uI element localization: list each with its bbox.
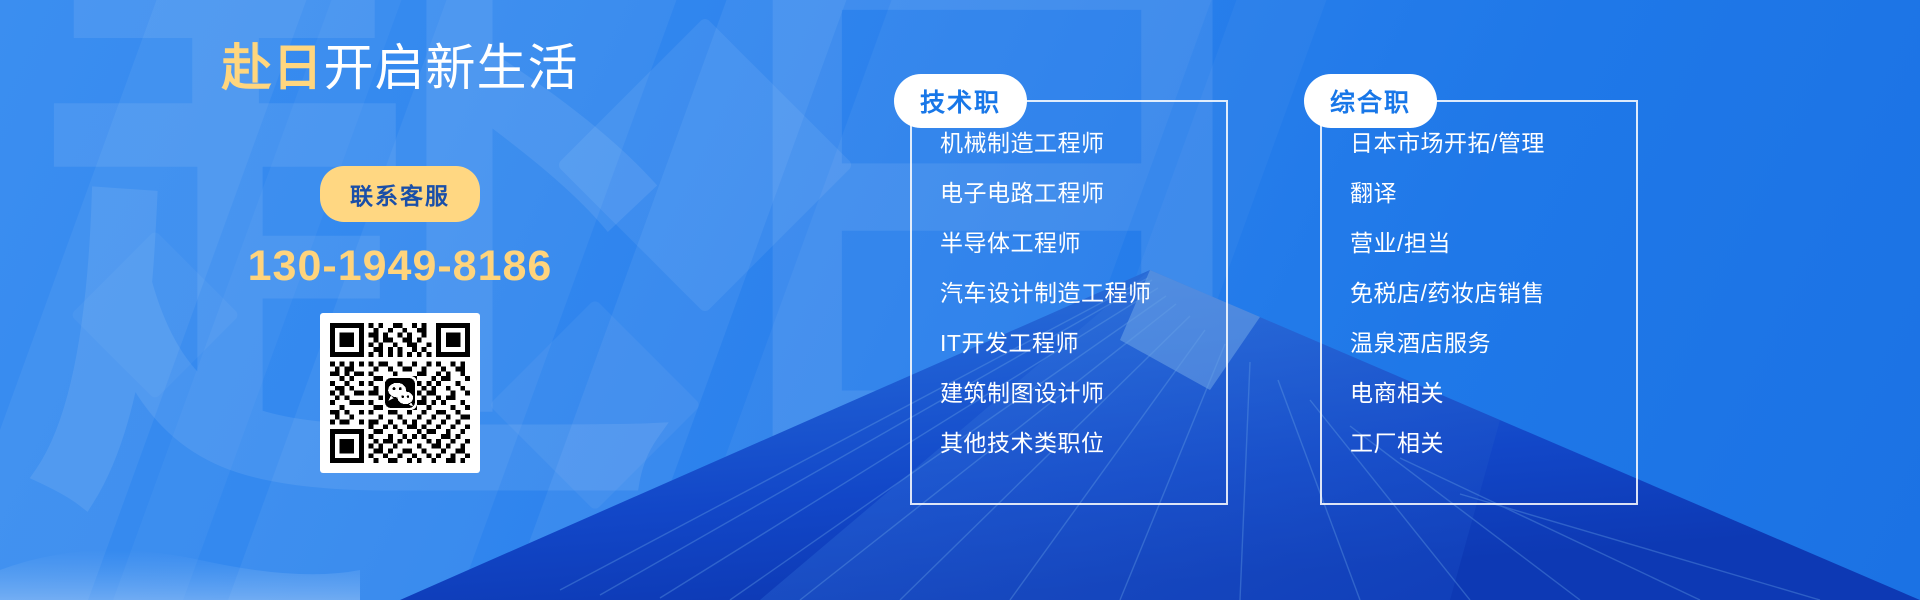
general-jobs-panel: 综合职 日本市场开拓/管理 翻译 营业/担当 免税店/药妆店销售 温泉酒店服务 …: [1320, 100, 1638, 505]
list-item[interactable]: 电商相关: [1350, 382, 1636, 432]
promo-banner: 赴日: [0, 0, 1920, 600]
technical-jobs-list: 机械制造工程师 电子电路工程师 半导体工程师 汽车设计制造工程师 IT开发工程师…: [912, 102, 1226, 482]
list-item[interactable]: 电子电路工程师: [940, 182, 1226, 232]
list-item[interactable]: 机械制造工程师: [940, 132, 1226, 182]
list-item[interactable]: 汽车设计制造工程师: [940, 282, 1226, 332]
list-item[interactable]: 免税店/药妆店销售: [1350, 282, 1636, 332]
general-jobs-list: 日本市场开拓/管理 翻译 营业/担当 免税店/药妆店销售 温泉酒店服务 电商相关…: [1322, 102, 1636, 482]
promo-column: 赴日开启新生活 联系客服 130-1949-8186: [150, 40, 650, 478]
list-item[interactable]: 温泉酒店服务: [1350, 332, 1636, 382]
headline-accent: 赴日: [222, 40, 324, 96]
wechat-qr-code[interactable]: [320, 313, 480, 473]
page-title: 赴日开启新生活: [150, 40, 650, 98]
phone-number[interactable]: 130-1949-8186: [150, 242, 650, 291]
contact-support-button[interactable]: 联系客服: [320, 166, 480, 222]
list-item[interactable]: 工厂相关: [1350, 432, 1636, 482]
list-item[interactable]: 营业/担当: [1350, 232, 1636, 282]
technical-jobs-panel: 技术职 机械制造工程师 电子电路工程师 半导体工程师 汽车设计制造工程师 IT开…: [910, 100, 1228, 505]
list-item[interactable]: 日本市场开拓/管理: [1350, 132, 1636, 182]
list-item[interactable]: 翻译: [1350, 182, 1636, 232]
technical-jobs-badge: 技术职: [894, 74, 1027, 128]
headline-plain: 开启新生活: [324, 40, 579, 96]
list-item[interactable]: 建筑制图设计师: [940, 382, 1226, 432]
list-item[interactable]: IT开发工程师: [940, 332, 1226, 382]
list-item[interactable]: 半导体工程师: [940, 232, 1226, 282]
qr-code-icon: [330, 323, 470, 463]
general-jobs-badge: 综合职: [1304, 74, 1437, 128]
list-item[interactable]: 其他技术类职位: [940, 432, 1226, 482]
